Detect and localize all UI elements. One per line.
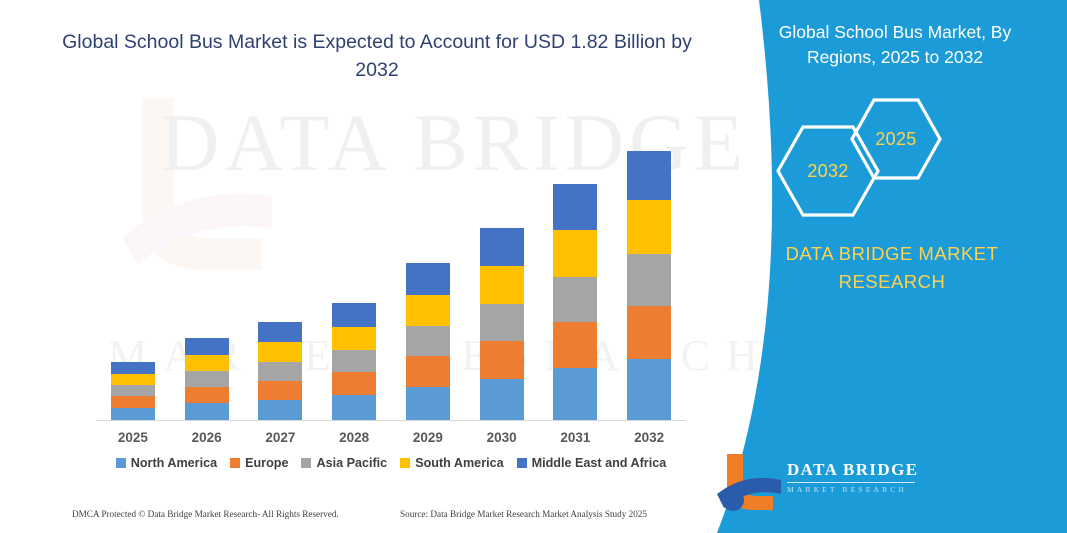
legend-swatch-icon <box>116 458 126 468</box>
bar-2029 <box>406 263 450 420</box>
bar-segment <box>185 387 229 403</box>
bar-2027 <box>258 322 302 420</box>
legend-item[interactable]: Europe <box>230 456 288 470</box>
bar-segment <box>627 151 671 200</box>
legend-item[interactable]: Middle East and Africa <box>517 456 667 470</box>
bar-segment <box>258 362 302 381</box>
bar-segment <box>627 254 671 306</box>
data-bridge-logo-icon <box>715 450 785 512</box>
bar-segment <box>185 403 229 420</box>
bar-segment <box>406 387 450 420</box>
bar-segment <box>111 396 155 408</box>
bar-2031 <box>553 184 597 420</box>
bar-segment <box>258 400 302 420</box>
logo-subtitle: MARKET RESEARCH <box>787 485 918 494</box>
chart-panel: DATA BRIDGE MARKET RESEARCH Global Schoo… <box>0 0 760 533</box>
legend-item[interactable]: Asia Pacific <box>301 456 387 470</box>
bar-segment <box>185 338 229 355</box>
bar-2025 <box>111 362 155 420</box>
bar-2030 <box>480 228 524 420</box>
bar-segment <box>627 306 671 359</box>
x-axis-label: 2025 <box>98 430 168 445</box>
x-axis-label: 2028 <box>319 430 389 445</box>
bar-segment <box>627 359 671 420</box>
bar-segment <box>480 228 524 266</box>
x-axis-label: 2031 <box>540 430 610 445</box>
bar-segment <box>332 350 376 372</box>
right-info-panel: Global School Bus Market, By Regions, 20… <box>707 0 1067 533</box>
chart-legend: North AmericaEuropeAsia PacificSouth Ame… <box>96 456 686 470</box>
bar-segment <box>111 374 155 385</box>
bar-segment <box>480 304 524 341</box>
panel-brand-text: DATA BRIDGE MARKET RESEARCH <box>737 240 1047 296</box>
bar-segment <box>406 295 450 326</box>
hexagon-badge-2025: 2025 <box>847 95 945 183</box>
bar-segment <box>406 326 450 356</box>
x-axis-label: 2029 <box>393 430 463 445</box>
bar-segment <box>258 342 302 362</box>
panel-heading: Global School Bus Market, By Regions, 20… <box>745 20 1045 71</box>
x-axis-label: 2027 <box>245 430 315 445</box>
x-axis-label: 2032 <box>614 430 684 445</box>
x-axis-label: 2026 <box>172 430 242 445</box>
bar-segment <box>553 277 597 322</box>
logo-divider <box>787 482 915 483</box>
x-axis-label: 2030 <box>467 430 537 445</box>
bar-segment <box>553 230 597 277</box>
footer-source: Source: Data Bridge Market Research Mark… <box>400 509 647 519</box>
legend-swatch-icon <box>230 458 240 468</box>
bar-2028 <box>332 303 376 420</box>
bar-segment <box>553 368 597 420</box>
bar-segment <box>627 200 671 254</box>
legend-item[interactable]: South America <box>400 456 503 470</box>
bar-segment <box>258 381 302 400</box>
bar-segment <box>406 263 450 295</box>
bar-segment <box>553 184 597 230</box>
x-axis-line <box>96 420 686 421</box>
legend-label: South America <box>415 456 503 470</box>
footer-copyright: DMCA Protected © Data Bridge Market Rese… <box>72 509 339 519</box>
legend-label: Asia Pacific <box>316 456 387 470</box>
bar-segment <box>332 372 376 395</box>
bar-2026 <box>185 338 229 420</box>
bar-segment <box>480 266 524 304</box>
bar-segment <box>332 327 376 350</box>
stacked-bar-chart: 20252026202720282029203020312032 <box>0 0 760 533</box>
legend-item[interactable]: North America <box>116 456 217 470</box>
plot-area <box>96 120 686 420</box>
legend-swatch-icon <box>400 458 410 468</box>
bar-segment <box>406 356 450 387</box>
bar-segment <box>332 303 376 327</box>
bar-segment <box>480 379 524 420</box>
legend-label: North America <box>131 456 217 470</box>
legend-label: Middle East and Africa <box>532 456 667 470</box>
bar-segment <box>111 362 155 374</box>
bar-segment <box>332 395 376 420</box>
legend-swatch-icon <box>301 458 311 468</box>
bar-2032 <box>627 151 671 420</box>
bar-segment <box>553 322 597 368</box>
logo-title: DATA BRIDGE <box>787 460 918 480</box>
bar-segment <box>185 355 229 371</box>
data-bridge-logo: DATA BRIDGE MARKET RESEARCH <box>715 450 935 516</box>
bar-segment <box>480 341 524 379</box>
bar-segment <box>111 385 155 396</box>
legend-swatch-icon <box>517 458 527 468</box>
bar-segment <box>111 408 155 420</box>
hexagon-label-right: 2025 <box>875 129 916 150</box>
bar-segment <box>185 371 229 387</box>
bar-segment <box>258 322 302 342</box>
hexagon-label-left: 2032 <box>807 161 848 182</box>
legend-label: Europe <box>245 456 288 470</box>
